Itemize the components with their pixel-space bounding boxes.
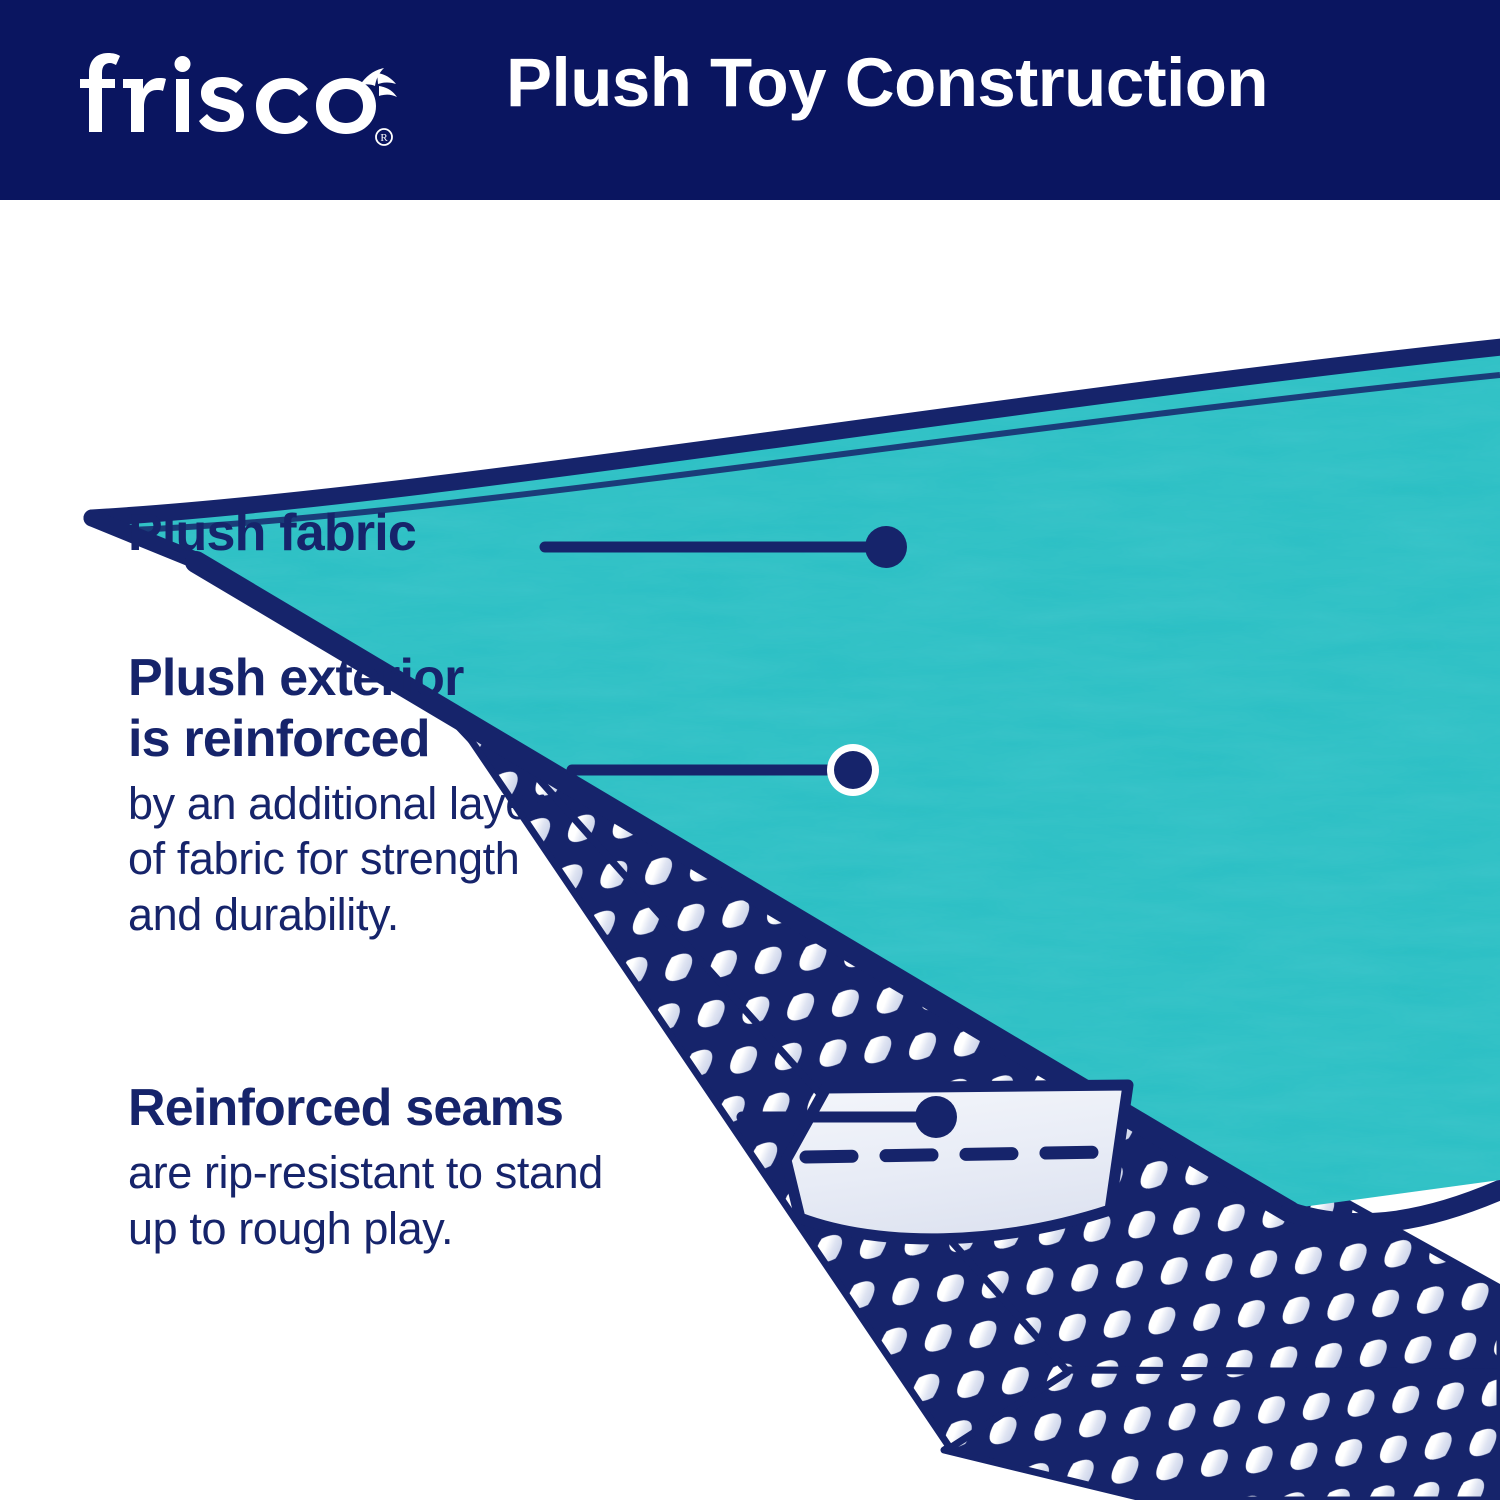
callout-plush-fabric: Plush fabric — [128, 503, 648, 564]
marker-dot-reinforced-seams — [915, 1096, 957, 1138]
marker-ring-plush-exterior — [834, 751, 872, 789]
callout-plush-exterior-body: by an additional layer of fabric for str… — [128, 770, 728, 943]
header-bar: R Plush Toy Construction — [0, 0, 1500, 200]
callout-plush-exterior: Plush exterior is reinforced by an addit… — [128, 648, 728, 943]
svg-text:R: R — [380, 132, 388, 144]
callout-reinforced-seams-heading: Reinforced seams — [128, 1078, 808, 1139]
infographic-page: R Plush Toy Construction — [0, 0, 1500, 1500]
callout-plush-exterior-heading: Plush exterior is reinforced — [128, 648, 728, 770]
marker-dot-plush-fabric — [865, 526, 907, 568]
callout-reinforced-seams: Reinforced seams are rip-resistant to st… — [128, 1078, 808, 1256]
page-title: Plush Toy Construction — [506, 47, 1268, 119]
frisco-logo-icon: R — [72, 42, 402, 152]
callout-plush-fabric-heading: Plush fabric — [128, 503, 648, 564]
callout-reinforced-seams-body: are rip-resistant to stand up to rough p… — [128, 1139, 808, 1257]
